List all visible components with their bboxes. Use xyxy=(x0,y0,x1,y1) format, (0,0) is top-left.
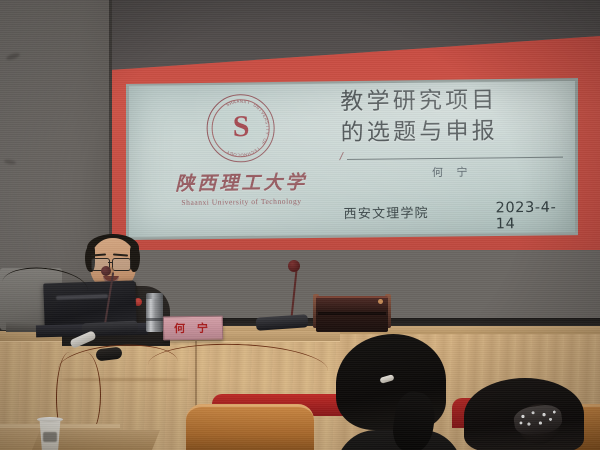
thermos-bottle[interactable] xyxy=(146,296,163,332)
name-card-text: 何 宁 xyxy=(174,320,212,337)
seal-ring-char: L xyxy=(237,153,240,158)
microphone-head-icon xyxy=(101,266,111,276)
glasses-lens xyxy=(112,258,131,271)
seal-ring-char: Y xyxy=(264,131,269,135)
lecture-hall-photo: S SHAANXI UNIVERSITY OF TECHNOLOGY 陕西理工大… xyxy=(0,0,600,450)
microphone-head-icon xyxy=(288,260,300,272)
glasses-bridge xyxy=(108,262,113,263)
slide-title-line-1: 教学研究项目 xyxy=(340,85,562,118)
audience-member-1 xyxy=(336,334,458,450)
microphone-stem xyxy=(290,268,298,320)
thermos-band xyxy=(146,318,163,321)
slide-presenter-name: 何 宁 xyxy=(341,163,563,182)
seal-ring-char: I xyxy=(265,125,270,127)
seal-ring-char: S xyxy=(264,121,269,125)
paper-cup-print xyxy=(43,432,57,442)
slide-affiliation: 西安文理学院 xyxy=(343,202,428,222)
seal-ring-text: SHAANXI UNIVERSITY OF TECHNOLOGY xyxy=(207,95,274,162)
university-name-en: Shaanxi University of Technology xyxy=(151,196,331,207)
thermos-cap[interactable] xyxy=(146,293,163,299)
seal-ring-char: I xyxy=(247,100,250,105)
audience-member-2 xyxy=(464,378,588,450)
university-name-cn: 陕西理工大学 xyxy=(151,167,331,196)
seal-ring-char: O xyxy=(240,153,244,158)
university-seal-icon: S SHAANXI UNIVERSITY OF TECHNOLOGY xyxy=(206,94,275,163)
slide-title-block: 教学研究项目 的选题与申报 何 宁 xyxy=(340,85,563,182)
presentation-slide: S SHAANXI UNIVERSITY OF TECHNOLOGY 陕西理工大… xyxy=(128,78,576,239)
slide-date: 2023-4-14 xyxy=(495,199,575,232)
slide-title-line-2: 的选题与申报 xyxy=(341,115,563,148)
title-underline xyxy=(341,150,563,162)
paper-cup-rim xyxy=(37,417,63,422)
speaker-hair-side xyxy=(130,246,140,272)
speaker-name-card: 何 宁 xyxy=(163,316,223,341)
auditorium-seat-back xyxy=(186,404,314,450)
chair-knob xyxy=(378,299,383,304)
university-logo: S SHAANXI UNIVERSITY OF TECHNOLOGY 陕西理工大… xyxy=(150,93,331,220)
chair-seat-line xyxy=(318,312,386,315)
title-rule-line xyxy=(347,157,563,161)
